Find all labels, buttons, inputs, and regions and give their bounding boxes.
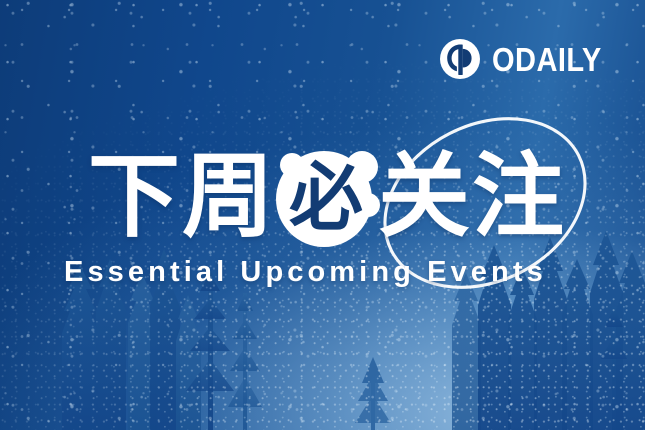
headline-char-1: 下: [88, 151, 182, 243]
subtitle-text: Essential Upcoming Events: [64, 258, 547, 287]
odaily-banner: 下 周 必 关 注 Essential Upcoming Events ODAI…: [0, 0, 645, 430]
headline-char-4: 关: [378, 151, 472, 243]
headline-cjk: 下 周 必 关 注: [88, 146, 566, 248]
odaily-circle-mark-icon: [439, 38, 481, 80]
badge-char-label: 必: [272, 145, 380, 249]
headline-char-2: 周: [182, 151, 276, 243]
odaily-logo[interactable]: ODAILY: [439, 38, 617, 80]
odaily-wordmark: ODAILY: [492, 43, 602, 76]
headline-char-5: 注: [472, 151, 566, 243]
headline-char-badge: 必: [272, 145, 380, 249]
